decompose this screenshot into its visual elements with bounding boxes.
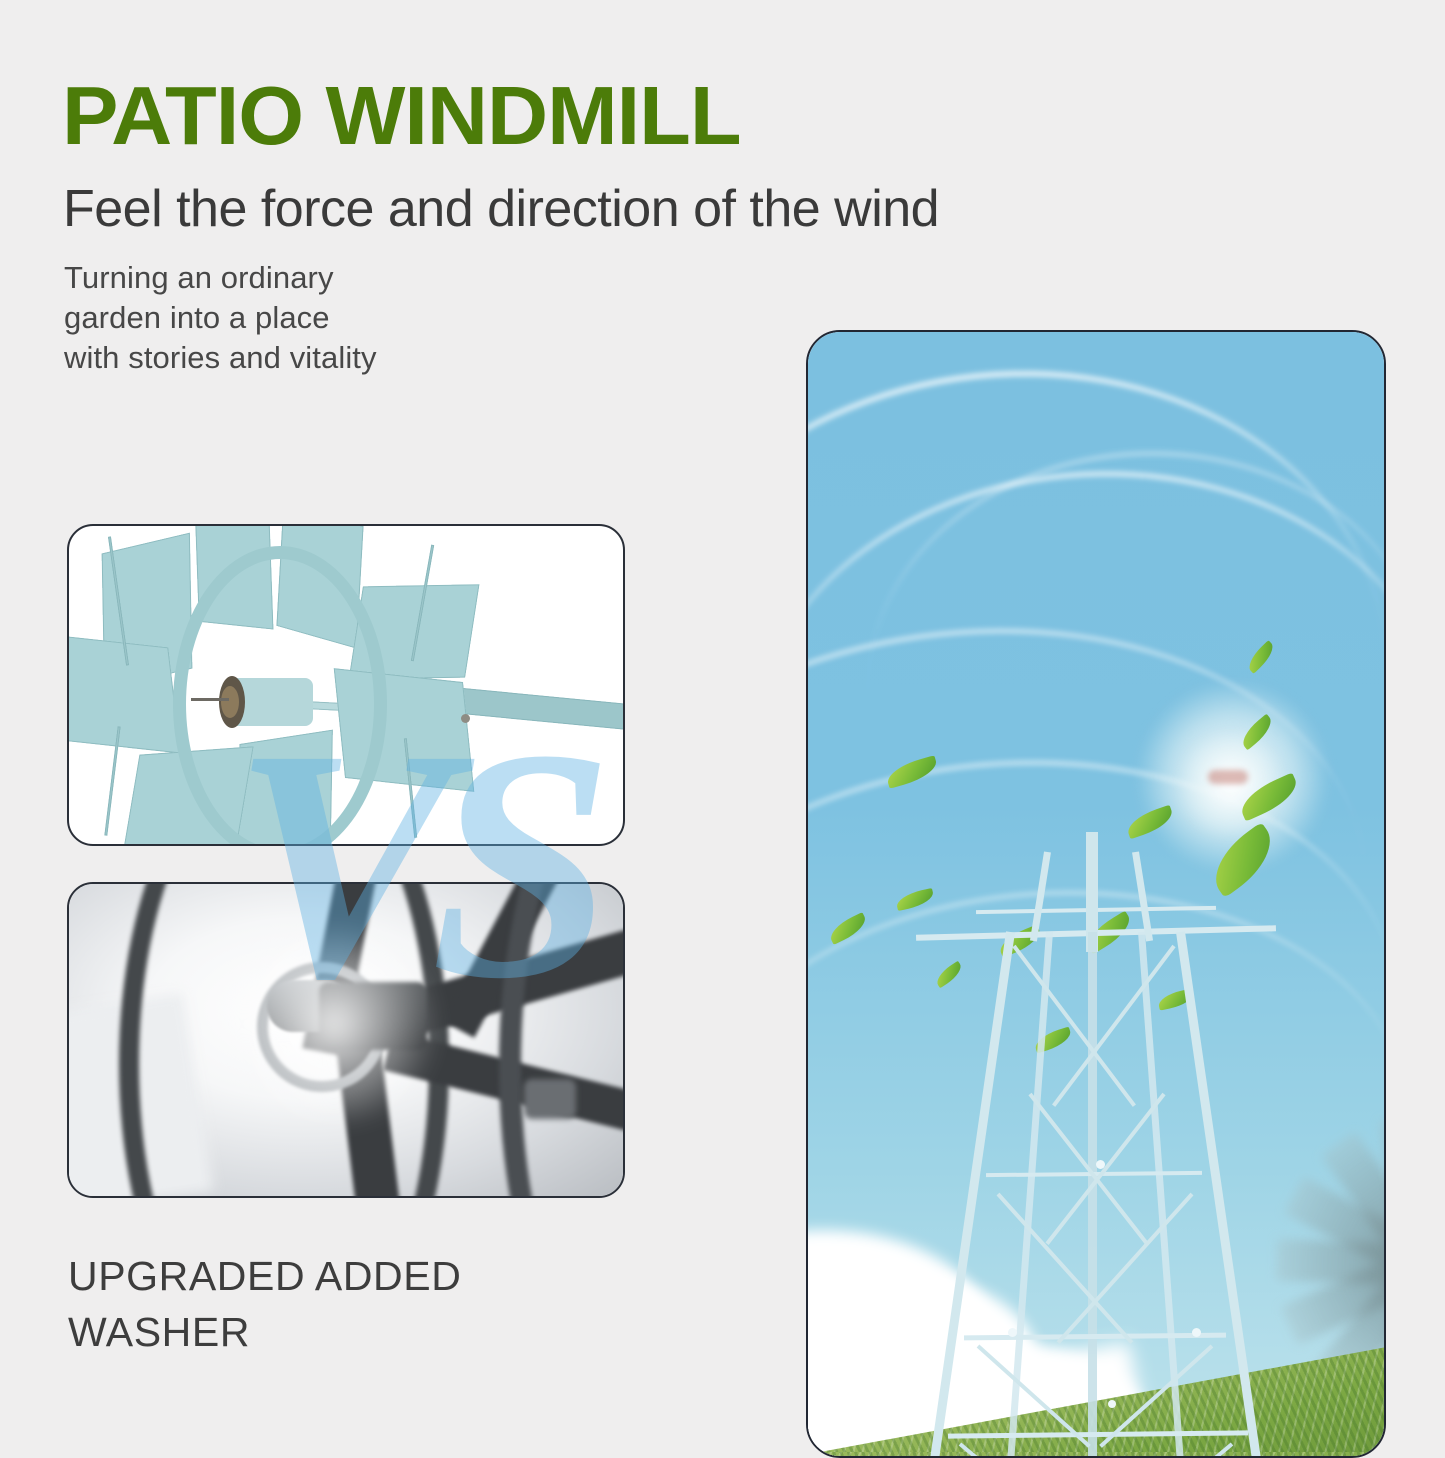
washer-illustration xyxy=(69,884,623,1196)
description-line-1: Turning an ordinary xyxy=(64,258,377,298)
tower-center-post xyxy=(1088,932,1097,1458)
rotor-rim-dark-right xyxy=(499,882,625,1198)
page-title: PATIO WINDMILL xyxy=(62,70,741,162)
boom-bolt xyxy=(461,714,470,723)
poster-canvas: PATIO WINDMILL Feel the force and direct… xyxy=(0,0,1445,1445)
feature-caption-line-1: UPGRADED ADDED xyxy=(68,1248,461,1304)
hero-illustration xyxy=(808,332,1384,1456)
tower-bolt-4 xyxy=(1108,1400,1116,1408)
hero-scene-panel xyxy=(806,330,1386,1458)
axle-pin xyxy=(191,698,229,701)
tower-bolt-1 xyxy=(1096,1160,1105,1169)
feature-caption: UPGRADED ADDED WASHER xyxy=(68,1248,461,1360)
description-line-2: garden into a place xyxy=(64,298,377,338)
description-line-3: with stories and vitality xyxy=(64,338,377,378)
hub-highlight xyxy=(219,924,449,1124)
tower-bolt-3 xyxy=(1192,1328,1201,1337)
photo-windmill-head xyxy=(67,524,625,846)
rotor-hub-detail xyxy=(1208,770,1248,784)
windmill-head-illustration xyxy=(69,526,623,844)
photo-washer-closeup xyxy=(67,882,625,1198)
description-block: Turning an ordinary garden into a place … xyxy=(64,258,377,378)
tower-bolt-2 xyxy=(1008,1328,1017,1337)
fastener xyxy=(524,1079,576,1119)
feature-caption-line-2: WASHER xyxy=(68,1304,461,1360)
axle-bolt xyxy=(221,686,239,718)
page-subtitle: Feel the force and direction of the wind xyxy=(63,178,939,240)
